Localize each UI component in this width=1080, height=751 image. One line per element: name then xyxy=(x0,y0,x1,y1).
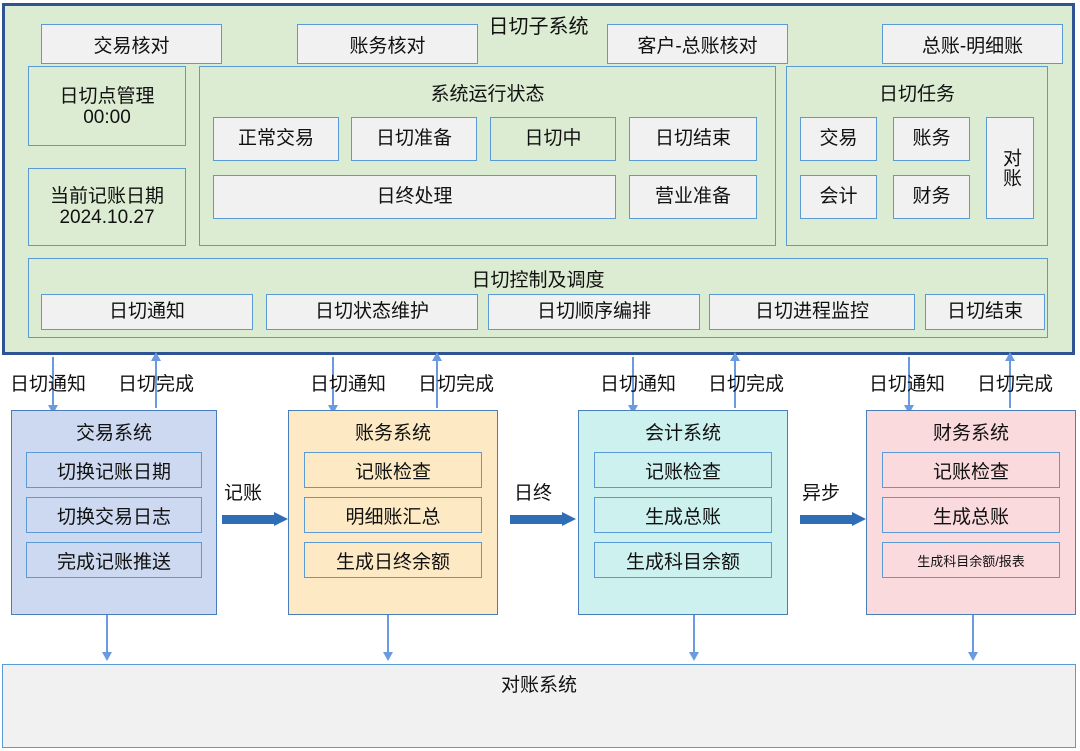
control-cell-process-monitor[interactable]: 日切进程监控 xyxy=(709,294,915,330)
system-item-finish-post-push[interactable]: 完成记账推送 xyxy=(26,542,202,578)
flow-label-notify-1: 日切通知 xyxy=(10,369,86,396)
system-card-ledger[interactable]: 会计系统 记账检查 生成总账 生成科目余额 xyxy=(578,410,788,615)
daycut-control-title: 日切控制及调度 xyxy=(29,265,1047,292)
arrowhead-recon-4 xyxy=(968,652,978,661)
flow-label-complete-3: 日切完成 xyxy=(708,369,784,396)
control-cell-sequence[interactable]: 日切顺序编排 xyxy=(488,294,700,330)
recon-cell-customer-ledger[interactable]: 客户-总账核对 xyxy=(607,24,788,64)
flow-label-complete-4: 日切完成 xyxy=(977,369,1053,396)
status-cell-eod-process[interactable]: 日终处理 xyxy=(213,175,616,219)
system-card-finance[interactable]: 财务系统 记账检查 生成总账 生成科目余额/报表 xyxy=(866,410,1076,615)
system-item-generate-ledger[interactable]: 生成总账 xyxy=(594,497,772,533)
status-cell-daycut-prepare[interactable]: 日切准备 xyxy=(351,117,477,161)
system-item-post-check-acct[interactable]: 记账检查 xyxy=(304,452,482,488)
recon-cell-account[interactable]: 账务核对 xyxy=(297,24,478,64)
system-item-post-check-finance[interactable]: 记账检查 xyxy=(882,452,1060,488)
daycut-point-label: 日切点管理 xyxy=(29,81,185,108)
flow-arrow-label-eod: 日终 xyxy=(514,478,552,505)
connector-recon-1 xyxy=(106,615,108,655)
daycut-point-value: 00:00 xyxy=(29,107,185,129)
connector-recon-4 xyxy=(972,615,974,655)
reconciliation-title: 对账系统 xyxy=(3,670,1075,697)
task-cell-reconciliation[interactable]: 对账 xyxy=(986,117,1034,219)
status-cell-business-prepare[interactable]: 营业准备 xyxy=(629,175,757,219)
current-date-label: 当前记账日期 xyxy=(29,181,185,208)
flow-arrow-posting xyxy=(222,512,288,526)
system-title-ledger: 会计系统 xyxy=(645,418,721,445)
system-item-eod-balance[interactable]: 生成日终余额 xyxy=(304,542,482,578)
diagram-canvas: 日切子系统 日切点管理 00:00 当前记账日期 2024.10.27 系统运行… xyxy=(0,0,1080,751)
flow-label-complete-1: 日切完成 xyxy=(118,369,194,396)
task-cell-account[interactable]: 账务 xyxy=(893,117,970,161)
system-card-accounting[interactable]: 账务系统 记账检查 明细账汇总 生成日终余额 xyxy=(288,410,498,615)
arrowhead-complete-3 xyxy=(730,352,740,361)
system-card-transaction[interactable]: 交易系统 切换记账日期 切换交易日志 完成记账推送 xyxy=(11,410,217,615)
arrowhead-recon-2 xyxy=(383,652,393,661)
flow-label-complete-2: 日切完成 xyxy=(418,369,494,396)
status-cell-daycut-end[interactable]: 日切结束 xyxy=(629,117,757,161)
system-item-switch-post-date[interactable]: 切换记账日期 xyxy=(26,452,202,488)
current-date-card[interactable]: 当前记账日期 2024.10.27 xyxy=(28,168,186,246)
control-cell-status-maintain[interactable]: 日切状态维护 xyxy=(266,294,478,330)
arrowhead-complete-2 xyxy=(432,352,442,361)
system-item-post-check-ledger[interactable]: 记账检查 xyxy=(594,452,772,488)
system-item-switch-trade-log[interactable]: 切换交易日志 xyxy=(26,497,202,533)
flow-arrow-async xyxy=(800,512,866,526)
flow-label-notify-3: 日切通知 xyxy=(600,369,676,396)
system-item-generate-ledger-finance[interactable]: 生成总账 xyxy=(882,497,1060,533)
task-cell-accounting[interactable]: 会计 xyxy=(800,175,877,219)
arrowhead-recon-3 xyxy=(689,652,699,661)
daycut-point-card[interactable]: 日切点管理 00:00 xyxy=(28,66,186,146)
control-cell-daycut-end[interactable]: 日切结束 xyxy=(925,294,1045,330)
task-cell-transaction[interactable]: 交易 xyxy=(800,117,877,161)
daycut-subsystem-title: 日切子系统 xyxy=(489,15,589,40)
system-title-finance: 财务系统 xyxy=(933,418,1009,445)
daycut-tasks-title: 日切任务 xyxy=(787,79,1047,106)
status-cell-normal-trade[interactable]: 正常交易 xyxy=(213,117,339,161)
flow-arrow-label-async: 异步 xyxy=(802,478,840,505)
run-status-title: 系统运行状态 xyxy=(200,79,775,106)
flow-arrow-label-posting: 记账 xyxy=(224,478,262,505)
system-title-transaction: 交易系统 xyxy=(76,418,152,445)
recon-cell-ledger-detail[interactable]: 总账-明细账 xyxy=(882,24,1063,64)
task-cell-finance[interactable]: 财务 xyxy=(893,175,970,219)
connector-recon-2 xyxy=(387,615,389,655)
system-item-detail-summary[interactable]: 明细账汇总 xyxy=(304,497,482,533)
arrowhead-recon-1 xyxy=(102,652,112,661)
status-cell-daycut-running[interactable]: 日切中 xyxy=(490,117,616,161)
flow-label-notify-4: 日切通知 xyxy=(869,369,945,396)
recon-cell-transaction[interactable]: 交易核对 xyxy=(41,24,222,64)
flow-label-notify-2: 日切通知 xyxy=(310,369,386,396)
arrowhead-complete-1 xyxy=(151,352,161,361)
flow-arrow-eod xyxy=(510,512,576,526)
system-item-subject-balance[interactable]: 生成科目余额 xyxy=(594,542,772,578)
system-title-accounting: 账务系统 xyxy=(355,418,431,445)
reconciliation-panel: 对账系统 xyxy=(2,664,1076,748)
connector-recon-3 xyxy=(693,615,695,655)
current-date-value: 2024.10.27 xyxy=(29,207,185,229)
system-item-subject-balance-report[interactable]: 生成科目余额/报表 xyxy=(882,542,1060,578)
arrowhead-complete-4 xyxy=(1005,352,1015,361)
control-cell-notify[interactable]: 日切通知 xyxy=(41,294,253,330)
